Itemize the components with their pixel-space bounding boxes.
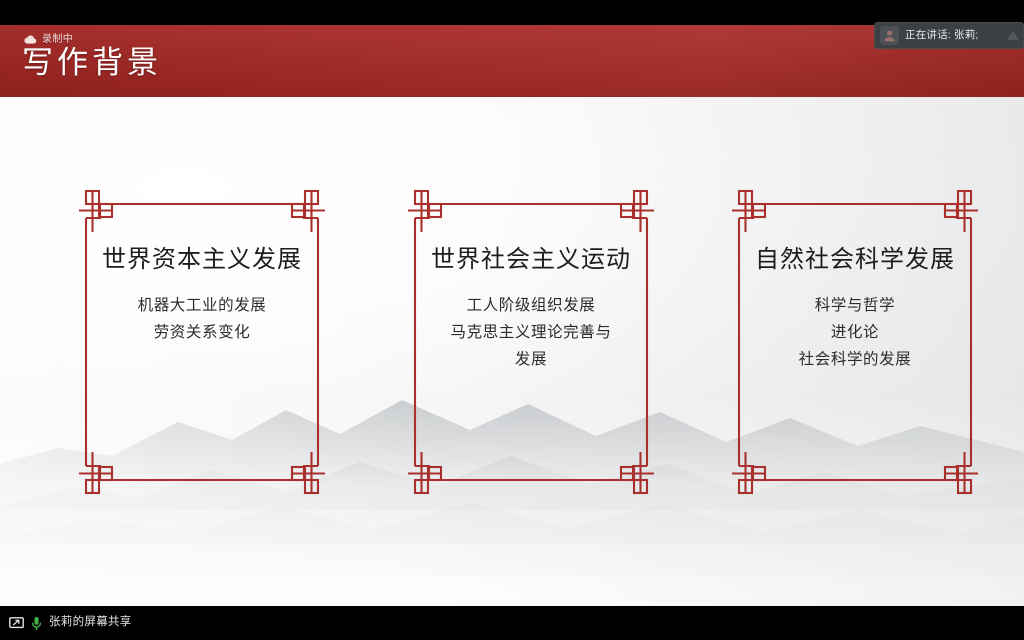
card-body: 自然社会科学发展 科学与哲学 进化论 社会科学的发展 [731,244,979,373]
corner-ornament-bottom-right [621,452,654,493]
content-card: 世界资本主义发展 机器大工业的发展 劳资关系变化 [78,188,326,496]
slide-canvas: 世界资本主义发展 机器大工业的发展 劳资关系变化 [0,97,1024,606]
card-body: 世界资本主义发展 机器大工业的发展 劳资关系变化 [78,244,326,346]
microphone-icon[interactable] [31,616,42,631]
card-line: 进化论 [741,319,969,346]
card-lines: 科学与哲学 进化论 社会科学的发展 [741,292,969,373]
card-line: 工人阶级组织发展 [417,292,645,319]
card-lines: 工人阶级组织发展 马克思主义理论完善与 发展 [417,292,645,373]
corner-ornament-bottom-right [292,452,325,493]
active-speaker-indicator[interactable]: 正在讲话: 张莉; [874,22,1024,49]
speaker-overflow-icon[interactable] [1004,27,1022,45]
corner-ornament-top-right [621,191,654,232]
card-line: 马克思主义理论完善与 [417,319,645,346]
card-line: 劳资关系变化 [88,319,316,346]
card-title: 自然社会科学发展 [741,244,969,274]
card-body: 世界社会主义运动 工人阶级组织发展 马克思主义理论完善与 发展 [407,244,655,373]
card-line: 科学与哲学 [741,292,969,319]
corner-ornament-bottom-right [945,452,978,493]
slide-header-banner: 录制中 写作背景 [0,25,1024,97]
screen-share-viewport: 录制中 写作背景 正在讲话: 张莉; [0,0,1024,640]
card-lines: 机器大工业的发展 劳资关系变化 [88,292,316,346]
bottom-chrome-bar: 张莉的屏幕共享 [0,606,1024,640]
corner-ornament-bottom-left [408,452,441,493]
corner-ornament-bottom-left [79,452,112,493]
share-status-label: 张莉的屏幕共享 [49,617,132,629]
screen-share-icon[interactable] [9,617,24,630]
recording-label: 录制中 [42,35,73,45]
corner-ornament-top-left [79,191,112,232]
card-title: 世界社会主义运动 [417,244,645,274]
top-chrome-bar [0,0,1024,25]
card-line: 社会科学的发展 [741,346,969,373]
card-title: 世界资本主义发展 [88,244,316,274]
corner-ornament-bottom-left [732,452,765,493]
content-card: 自然社会科学发展 科学与哲学 进化论 社会科学的发展 [731,188,979,496]
content-card: 世界社会主义运动 工人阶级组织发展 马克思主义理论完善与 发展 [407,188,655,496]
participant-avatar-icon [880,26,899,45]
page-title: 写作背景 [22,46,162,81]
corner-ornament-top-right [292,191,325,232]
card-line: 机器大工业的发展 [88,292,316,319]
card-line: 发展 [417,346,645,373]
corner-ornament-top-left [408,191,441,232]
corner-ornament-top-right [945,191,978,232]
active-speaker-label: 正在讲话: 张莉; [905,30,979,41]
card-group: 世界资本主义发展 机器大工业的发展 劳资关系变化 [0,97,1024,606]
corner-ornament-top-left [732,191,765,232]
